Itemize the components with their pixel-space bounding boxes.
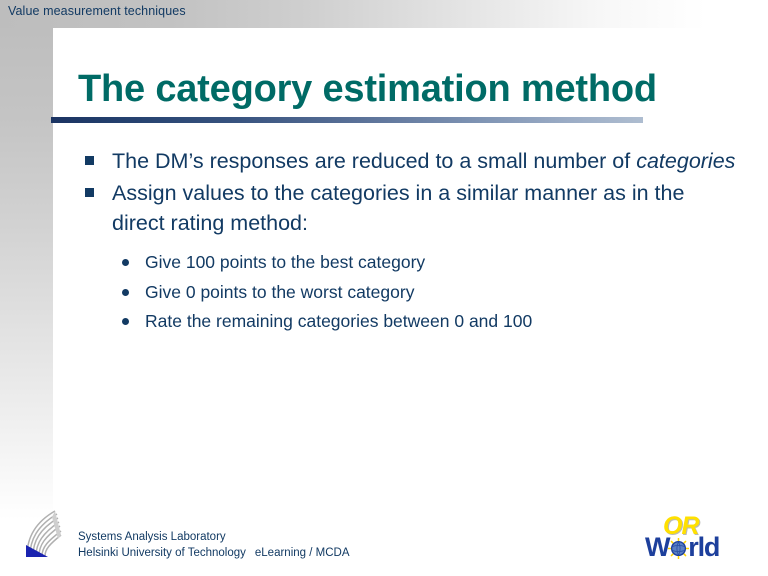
list-item: Assign values to the categories in a sim… (82, 178, 742, 238)
footer-text-block: Systems Analysis Laboratory Helsinki Uni… (78, 530, 359, 561)
slide-header-text: Value measurement techniques (8, 4, 186, 18)
list-item: Give 100 points to the best category (118, 248, 742, 278)
or-world-logo: OR W rld (645, 512, 765, 570)
bullet-text: Assign values to the categories in a sim… (112, 181, 684, 235)
world-suffix: rld (688, 532, 719, 563)
slide-title: The category estimation method (78, 68, 657, 111)
round-bullet-icon (122, 289, 129, 296)
list-item: Rate the remaining categories between 0 … (118, 307, 742, 337)
world-prefix: W (645, 532, 669, 563)
round-bullet-icon (122, 259, 129, 266)
footer-course: eLearning / MCDA (255, 547, 350, 559)
sub-bullet-text: Give 0 points to the worst category (145, 282, 414, 302)
globe-sun-icon (668, 535, 689, 556)
sub-bullet-text: Give 100 points to the best category (145, 252, 425, 272)
footer-university-line: Helsinki University of TechnologyeLearni… (78, 546, 359, 562)
list-item: The DM’s responses are reduced to a smal… (82, 146, 742, 176)
round-bullet-icon (122, 318, 129, 325)
left-gradient-band (0, 28, 53, 520)
slide-footer: Systems Analysis Laboratory Helsinki Uni… (24, 505, 424, 565)
footer-lab-line: Systems Analysis Laboratory (78, 530, 359, 546)
world-wordmark: W rld (645, 532, 719, 563)
sub-bullet-list: Give 100 points to the best category Giv… (82, 248, 742, 337)
tkk-wing-logo-icon (24, 509, 66, 561)
list-item: Give 0 points to the worst category (118, 278, 742, 308)
bullet-text: The DM’s responses are reduced to a smal… (112, 149, 636, 173)
presentation-slide: Value measurement techniques The categor… (0, 0, 768, 576)
footer-university: Helsinki University of Technology (78, 547, 246, 559)
square-bullet-icon (85, 188, 94, 197)
bullet-text-italic: categories (636, 149, 735, 173)
sub-bullet-text: Rate the remaining categories between 0 … (145, 311, 532, 331)
square-bullet-icon (85, 156, 94, 165)
title-underline-rule (51, 117, 643, 123)
bullet-list: The DM’s responses are reduced to a smal… (82, 146, 742, 337)
